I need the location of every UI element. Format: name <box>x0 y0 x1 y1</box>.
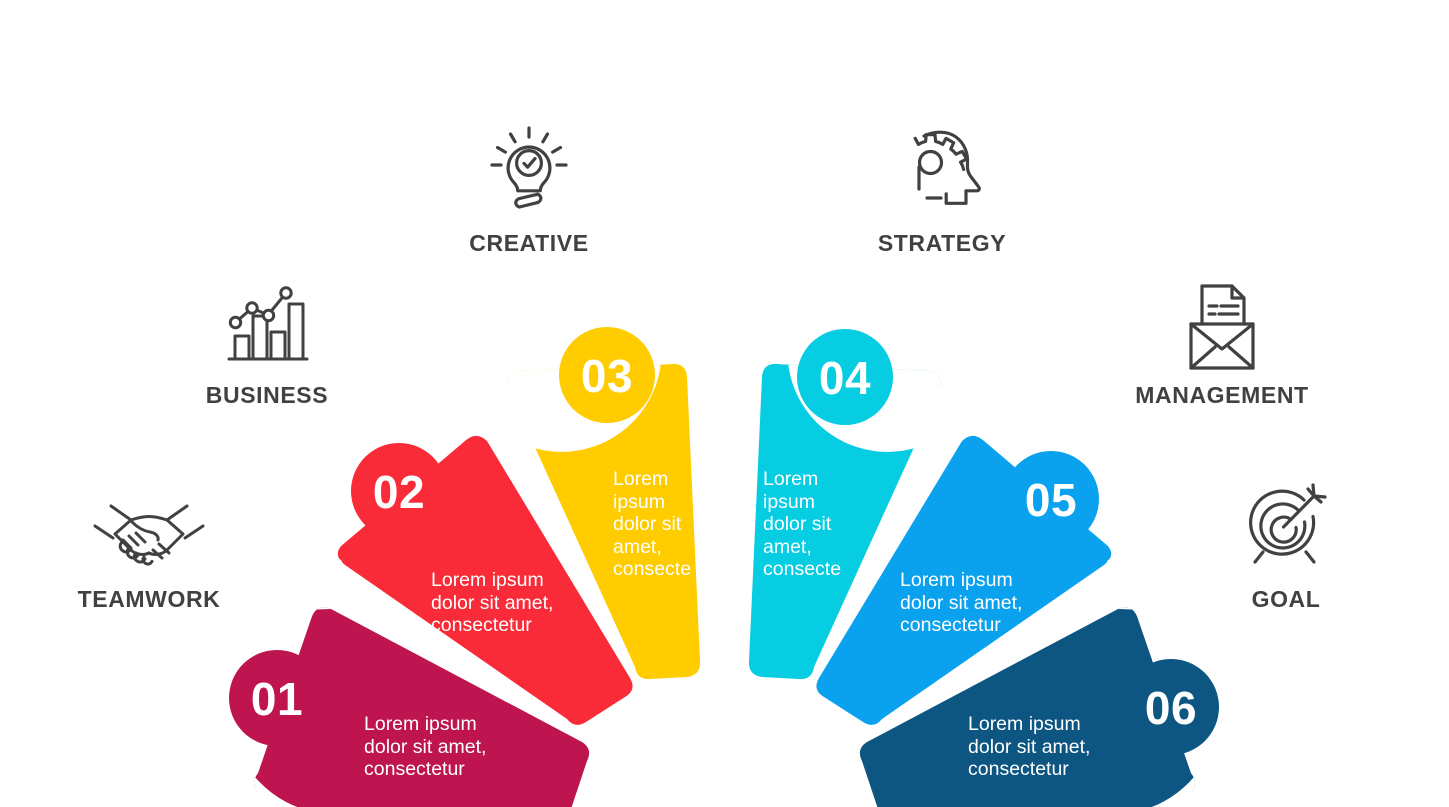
node-creative[interactable]: CREATIVE <box>409 122 649 257</box>
node-teamwork[interactable]: TEAMWORK <box>29 478 269 613</box>
node-creative-label: CREATIVE <box>409 230 649 257</box>
node-strategy[interactable]: STRATEGY <box>822 122 1062 257</box>
segment-01-badge <box>229 650 325 746</box>
segment-06-badge <box>1123 659 1219 755</box>
segment-03-badge <box>559 327 655 423</box>
node-goal-label: GOAL <box>1166 586 1406 613</box>
infographic-canvas: 01 02 03 04 05 06 Lorem ipsum dolor sit … <box>0 0 1449 807</box>
segment-02-badge <box>351 443 447 539</box>
segment-04-badge <box>797 329 893 425</box>
head-gear-icon <box>822 122 1062 218</box>
node-teamwork-label: TEAMWORK <box>29 586 269 613</box>
node-strategy-label: STRATEGY <box>822 230 1062 257</box>
bar-chart-growth-icon <box>147 274 387 370</box>
handshake-icon <box>29 478 269 574</box>
target-arrow-icon <box>1166 478 1406 574</box>
lightbulb-check-icon <box>409 122 649 218</box>
node-management[interactable]: MANAGEMENT <box>1102 274 1342 409</box>
node-business-label: BUSINESS <box>147 382 387 409</box>
segment-05-badge <box>1003 451 1099 547</box>
node-management-label: MANAGEMENT <box>1102 382 1342 409</box>
node-business[interactable]: BUSINESS <box>147 274 387 409</box>
node-goal[interactable]: GOAL <box>1166 478 1406 613</box>
envelope-document-icon <box>1102 274 1342 370</box>
